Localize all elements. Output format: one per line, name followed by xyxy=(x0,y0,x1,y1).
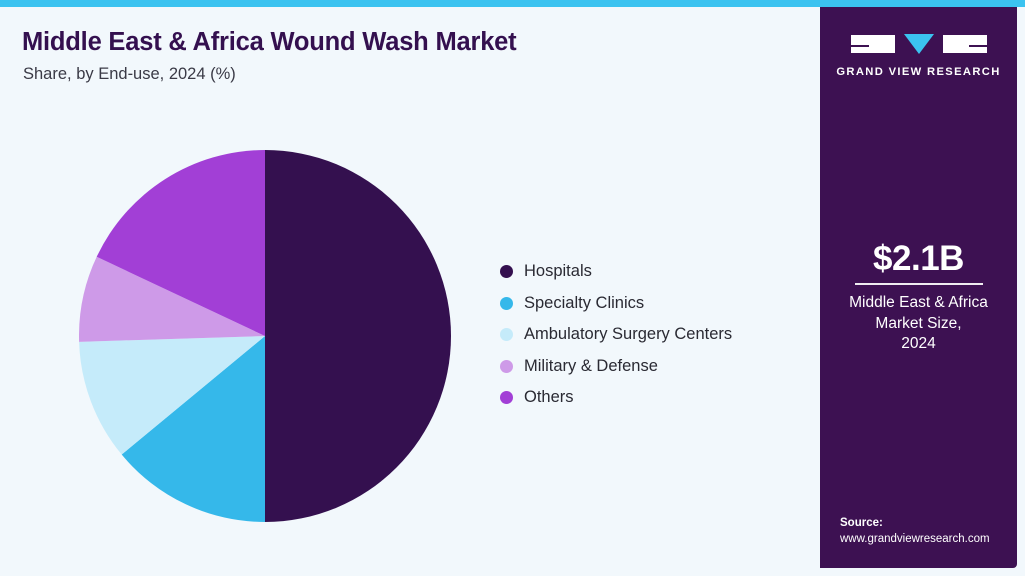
market-size-value: $2.1B xyxy=(820,239,1017,278)
legend-item-label: Specialty Clinics xyxy=(524,294,644,313)
chart-page: Middle East & Africa Wound Wash Market S… xyxy=(0,0,1025,576)
pie-slice[interactable] xyxy=(265,150,451,522)
legend-swatch-icon xyxy=(500,297,513,310)
chart-legend: HospitalsSpecialty ClinicsAmbulatory Sur… xyxy=(500,256,800,414)
market-size-stat: $2.1B Middle East & Africa Market Size, … xyxy=(820,239,1017,355)
market-size-caption-line-1: Middle East & Africa xyxy=(820,293,1017,314)
legend-item-label: Hospitals xyxy=(524,262,592,281)
legend-item[interactable]: Ambulatory Surgery Centers xyxy=(500,319,800,351)
grand-view-research-logo-icon xyxy=(849,29,989,59)
brand-logo-text: GRAND VIEW RESEARCH xyxy=(820,66,1017,78)
legend-item-label: Others xyxy=(524,388,574,407)
legend-swatch-icon xyxy=(500,265,513,278)
source-block: Source: www.grandviewresearch.com xyxy=(840,515,1020,548)
legend-swatch-icon xyxy=(500,391,513,404)
page-subtitle: Share, by End-use, 2024 (%) xyxy=(23,65,236,84)
source-label: Source: xyxy=(840,515,1020,532)
pie-chart-svg xyxy=(79,140,451,532)
legend-item[interactable]: Specialty Clinics xyxy=(500,288,800,320)
legend-item[interactable]: Military & Defense xyxy=(500,351,800,383)
brand-side-panel: GRAND VIEW RESEARCH $2.1B Middle East & … xyxy=(820,7,1017,568)
page-title: Middle East & Africa Wound Wash Market xyxy=(22,28,516,57)
brand-logo: GRAND VIEW RESEARCH xyxy=(820,29,1017,78)
legend-item[interactable]: Others xyxy=(500,382,800,414)
chart-content-area: Middle East & Africa Wound Wash Market S… xyxy=(0,7,820,576)
top-accent-bar xyxy=(0,0,1025,7)
legend-swatch-icon xyxy=(500,328,513,341)
legend-item-label: Military & Defense xyxy=(524,357,658,376)
market-size-caption-line-3: 2024 xyxy=(820,334,1017,355)
pie-slice-group xyxy=(79,150,451,522)
market-size-caption-line-2: Market Size, xyxy=(820,314,1017,335)
source-url[interactable]: www.grandviewresearch.com xyxy=(840,531,1020,548)
pie-chart xyxy=(79,140,451,532)
stat-divider xyxy=(855,283,983,285)
legend-item[interactable]: Hospitals xyxy=(500,256,800,288)
legend-swatch-icon xyxy=(500,360,513,373)
legend-item-label: Ambulatory Surgery Centers xyxy=(524,325,732,344)
